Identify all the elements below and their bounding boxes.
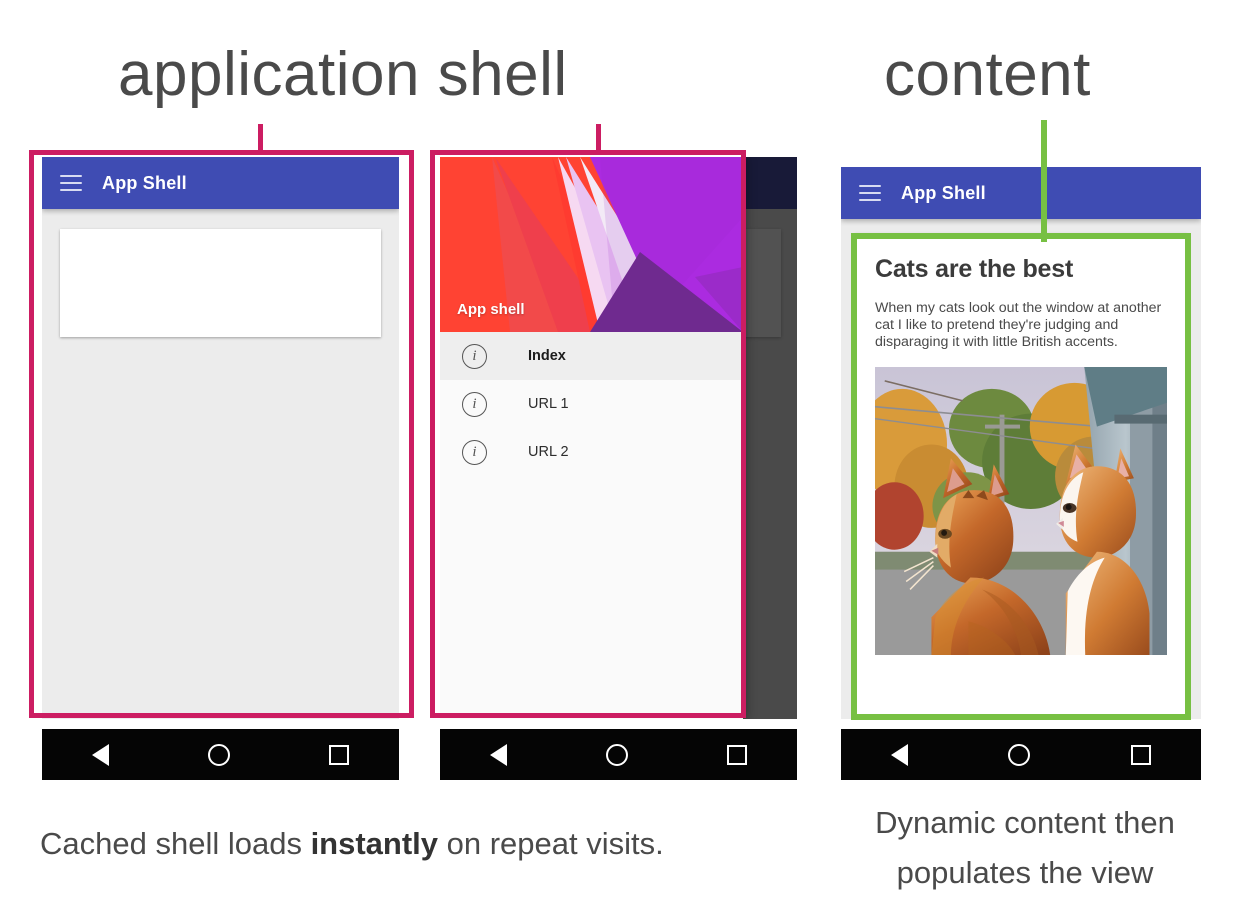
- application-shell-label: application shell: [118, 36, 568, 114]
- home-circle-icon[interactable]: [208, 744, 230, 766]
- cats-window-image: [875, 367, 1167, 655]
- info-icon: i: [462, 440, 487, 465]
- caption-left-part2: on repeat visits.: [438, 826, 664, 861]
- caption-left-emphasis: instantly: [311, 826, 438, 861]
- phone-app-content: App Shell Cats are the best When my cats…: [841, 167, 1201, 719]
- back-triangle-icon[interactable]: [490, 744, 507, 766]
- phone1-screen: App Shell: [42, 157, 399, 719]
- leader-line-shell-right: [596, 124, 601, 154]
- phone3-appbar-title: App Shell: [901, 183, 986, 204]
- phone1-body: [42, 209, 399, 719]
- recents-square-icon[interactable]: [329, 745, 349, 765]
- phone1-appbar-title: App Shell: [102, 173, 187, 194]
- cat-photo: [875, 367, 1167, 655]
- drawer-item-label: URL 1: [528, 396, 569, 412]
- drawer-item-index[interactable]: i Index: [440, 332, 743, 380]
- caption-right: Dynamic content then populates the view: [835, 798, 1215, 898]
- caption-right-line1: Dynamic content then: [835, 798, 1215, 848]
- article-title: Cats are the best: [875, 255, 1167, 284]
- drawer-item-url-2[interactable]: i URL 2: [440, 428, 743, 476]
- drawer-item-url-1[interactable]: i URL 1: [440, 380, 743, 428]
- drawer-item-list: i Index i URL 1 i URL 2: [440, 332, 743, 476]
- info-icon: i: [462, 344, 487, 369]
- hamburger-icon[interactable]: [60, 175, 82, 191]
- phone3-appbar: App Shell: [841, 167, 1201, 219]
- info-icon: i: [462, 392, 487, 417]
- phone3-body: Cats are the best When my cats look out …: [841, 219, 1201, 719]
- phone-app-shell-drawer: App shell i Index i URL 1 i URL 2: [440, 157, 797, 719]
- hamburger-icon[interactable]: [859, 185, 881, 201]
- phone2-navbar: [440, 729, 797, 780]
- leader-line-content: [1041, 120, 1047, 242]
- phone2-screen: App shell i Index i URL 1 i URL 2: [440, 157, 797, 719]
- drawer-header-graphic: App shell: [440, 157, 743, 332]
- drawer-item-label: URL 2: [528, 444, 569, 460]
- home-circle-icon[interactable]: [606, 744, 628, 766]
- phone3-screen: App Shell Cats are the best When my cats…: [841, 167, 1201, 719]
- phone-app-shell-empty: App Shell: [42, 157, 399, 719]
- placeholder-card: [60, 229, 381, 337]
- drawer-header-title: App shell: [457, 301, 525, 318]
- back-triangle-icon[interactable]: [891, 744, 908, 766]
- back-triangle-icon[interactable]: [92, 744, 109, 766]
- leader-line-shell-left: [258, 124, 263, 154]
- phone3-navbar: [841, 729, 1201, 780]
- phone1-appbar: App Shell: [42, 157, 399, 209]
- caption-left-part1: Cached shell loads: [40, 826, 311, 861]
- caption-left: Cached shell loads instantly on repeat v…: [40, 826, 664, 862]
- navigation-drawer: App shell i Index i URL 1 i URL 2: [440, 157, 743, 719]
- phone1-navbar: [42, 729, 399, 780]
- caption-right-line2: populates the view: [835, 848, 1215, 898]
- article-card: Cats are the best When my cats look out …: [855, 233, 1187, 719]
- recents-square-icon[interactable]: [727, 745, 747, 765]
- content-label: content: [884, 36, 1091, 114]
- article-body: When my cats look out the window at anot…: [875, 300, 1167, 351]
- home-circle-icon[interactable]: [1008, 744, 1030, 766]
- drawer-item-label: Index: [528, 348, 566, 364]
- recents-square-icon[interactable]: [1131, 745, 1151, 765]
